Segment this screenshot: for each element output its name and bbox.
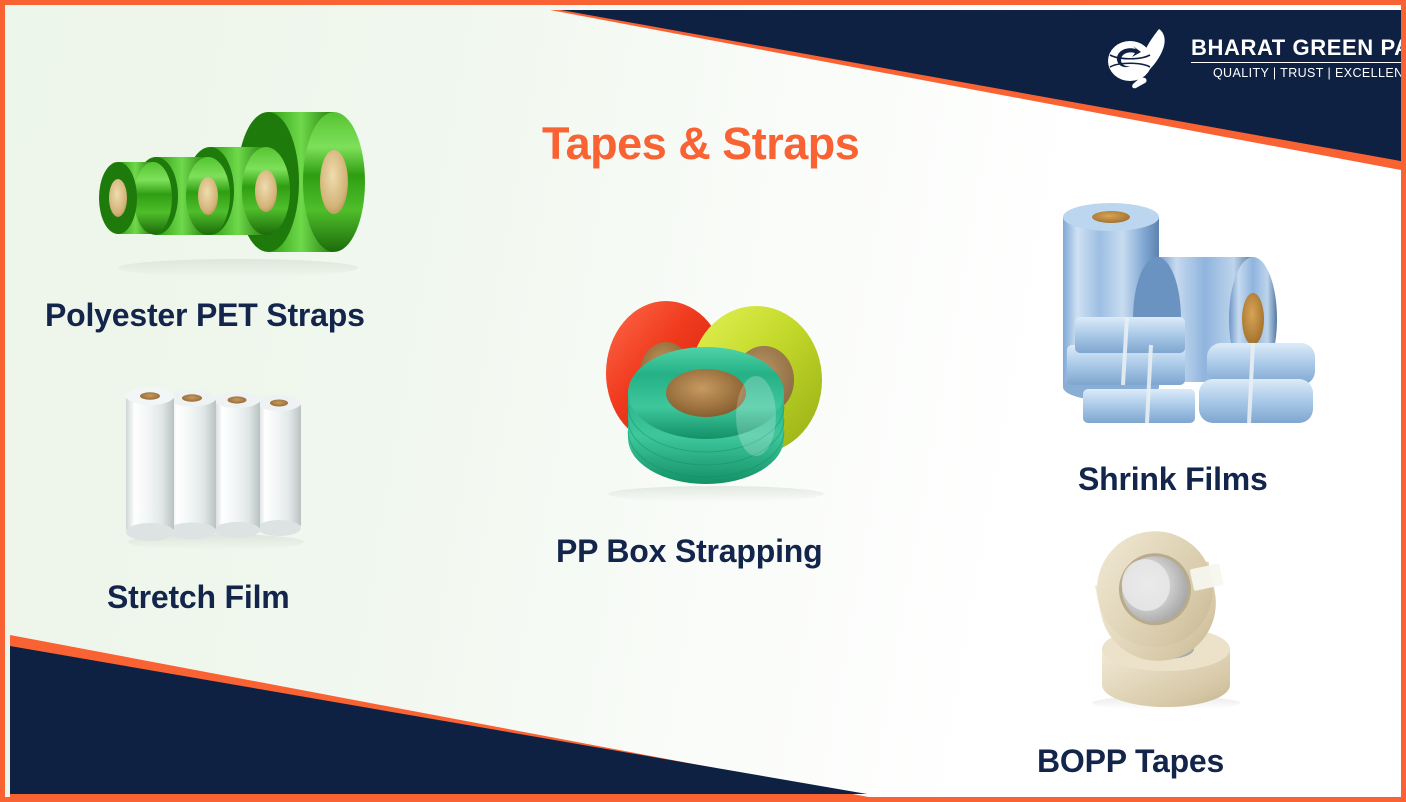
shrink-films-image <box>1039 197 1335 434</box>
product-label-shrink-films: Shrink Films <box>1078 461 1268 498</box>
product-label-bopp-tapes: BOPP Tapes <box>1037 743 1224 780</box>
product-label-stretch-film: Stretch Film <box>107 579 290 616</box>
pp-box-strapping-image <box>588 288 844 503</box>
logo-title: BHARAT GREEN PACK <box>1191 36 1406 63</box>
brand-logo: BHARAT GREEN PACK QUALITY | TRUST | EXCE… <box>1103 27 1406 89</box>
stretch-film-image <box>118 378 313 553</box>
product-label-pp-box-strapping: PP Box Strapping <box>556 533 822 570</box>
logo-tagline: QUALITY | TRUST | EXCELLENCE <box>1191 63 1406 80</box>
bopp-tapes-image <box>1068 513 1264 709</box>
polyester-pet-straps-image <box>98 102 366 277</box>
page-title: Tapes & Straps <box>542 118 859 170</box>
promo-banner: BHARAT GREEN PACK QUALITY | TRUST | EXCE… <box>0 0 1406 802</box>
globe-leaf-icon <box>1103 27 1181 89</box>
logo-text-block: BHARAT GREEN PACK QUALITY | TRUST | EXCE… <box>1191 36 1406 80</box>
product-label-polyester-pet-straps: Polyester PET Straps <box>45 297 365 334</box>
